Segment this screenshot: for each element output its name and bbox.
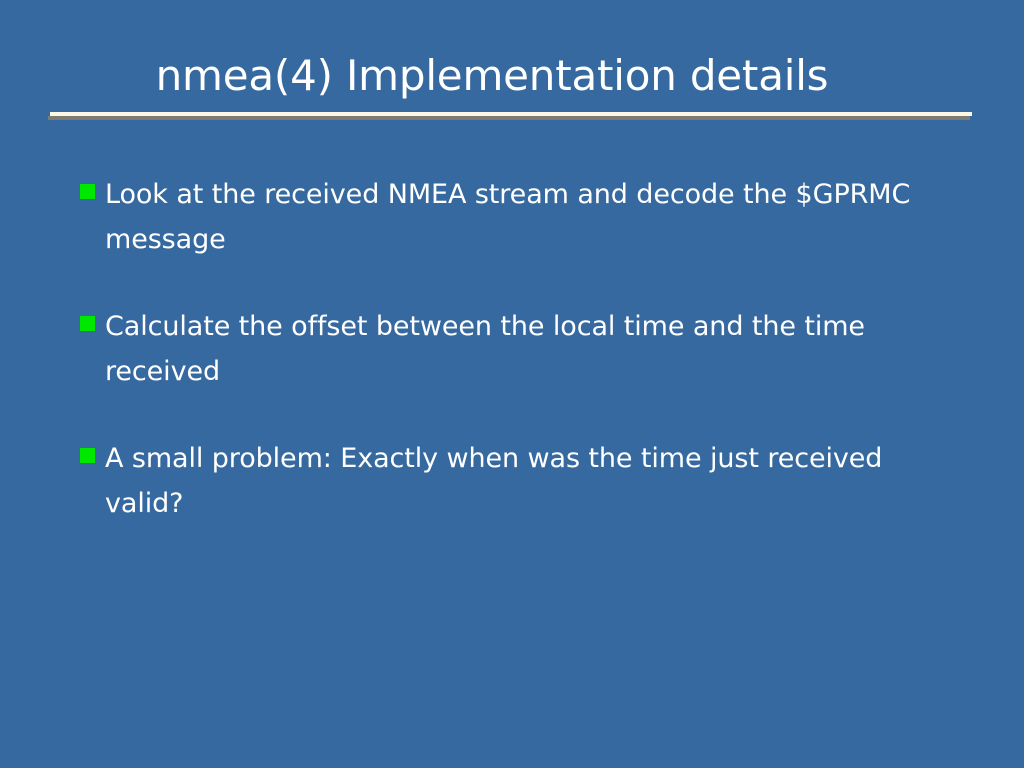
bullet-text: Look at the received NMEA stream and dec… (105, 172, 935, 262)
title-divider-shadow (48, 116, 970, 120)
list-item: Look at the received NMEA stream and dec… (78, 172, 958, 262)
slide-body: Look at the received NMEA stream and dec… (78, 172, 958, 526)
bullet-text: A small problem: Exactly when was the ti… (105, 436, 935, 526)
green-square-bullet-icon (80, 316, 95, 331)
list-item: Calculate the offset between the local t… (78, 304, 958, 394)
slide-title-block: nmea(4) Implementation details (0, 48, 1024, 110)
list-item: A small problem: Exactly when was the ti… (78, 436, 958, 526)
green-square-bullet-icon (80, 184, 95, 199)
title-divider-rule (50, 112, 972, 120)
page-title: nmea(4) Implementation details (0, 48, 1024, 104)
title-divider-line (50, 112, 972, 116)
bullet-text: Calculate the offset between the local t… (105, 304, 935, 394)
presentation-slide: nmea(4) Implementation details Look at t… (0, 0, 1024, 768)
green-square-bullet-icon (80, 448, 95, 463)
